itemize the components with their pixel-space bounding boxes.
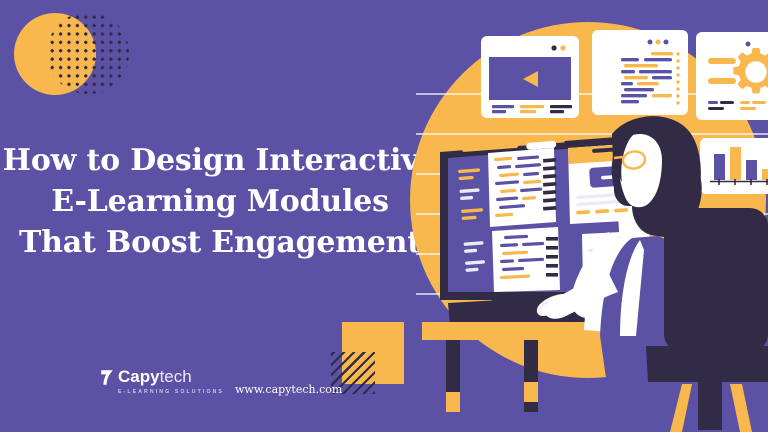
logo-tagline: E-LEARNING SOLUTIONS: [118, 389, 224, 395]
code-editor-card: [592, 30, 688, 115]
logo-name-bold: Capy: [118, 367, 160, 386]
video-player-card: [481, 36, 579, 118]
dotted-circle-icon: [47, 12, 129, 94]
code-lines-icon: [621, 52, 673, 103]
bar-chart-card: [700, 138, 768, 194]
page-title: How to Design Interactive E-Learning Mod…: [0, 140, 440, 263]
settings-card: [696, 32, 768, 120]
capytech-mark-icon: [100, 369, 115, 386]
blog-banner: How to Design Interactive E-Learning Mod…: [0, 0, 768, 432]
website-url: www.capytech.com: [235, 383, 342, 396]
illustration-svg: [396, 0, 768, 432]
brand-lockup: Capytech E-LEARNING SOLUTIONS www.capyte…: [100, 368, 342, 396]
hero-illustration: [396, 0, 768, 432]
title-line-2: E-Learning Modules: [0, 181, 440, 222]
monitor-text-panel: [488, 148, 556, 227]
logo-name-light: tech: [160, 367, 192, 386]
logo-wordmark: Capytech: [118, 368, 192, 386]
logo: Capytech E-LEARNING SOLUTIONS: [100, 368, 224, 395]
monitor-lower-panel: [492, 227, 560, 292]
title-line-3: That Boost Engagement: [0, 222, 440, 263]
title-line-1: How to Design Interactive: [0, 140, 440, 181]
